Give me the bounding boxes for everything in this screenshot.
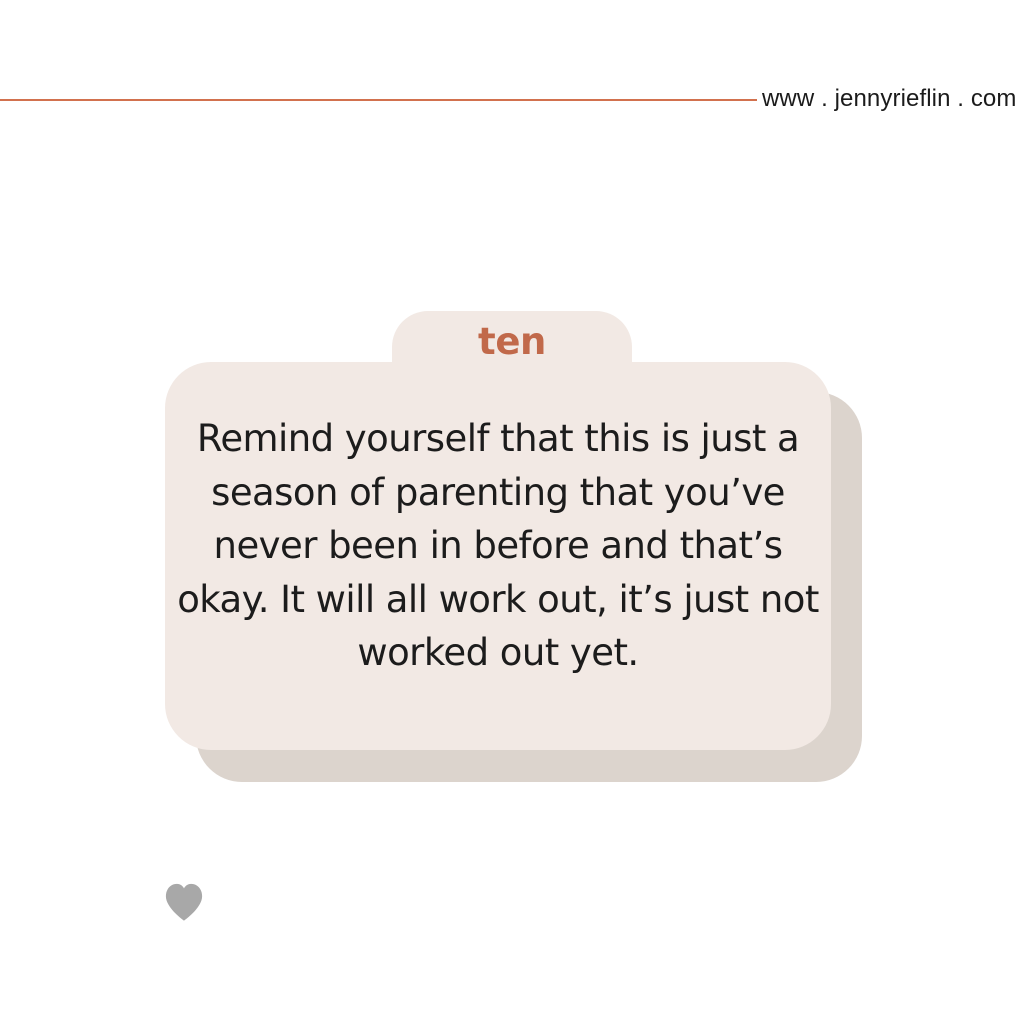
quote-text: Remind yourself that this is just a seas… bbox=[165, 412, 831, 680]
heart-icon[interactable] bbox=[163, 881, 205, 923]
quote-card: ten Remind yourself that this is just a … bbox=[0, 0, 1024, 1024]
card-body: Remind yourself that this is just a seas… bbox=[165, 362, 831, 750]
